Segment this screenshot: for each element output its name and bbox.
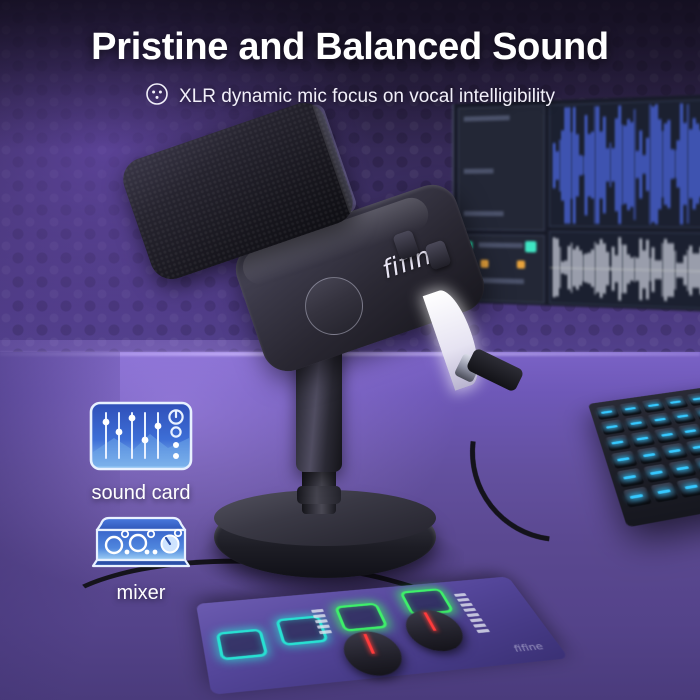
callout-sound-card-label: sound card <box>56 482 226 505</box>
keyboard-key <box>686 392 700 406</box>
microphone-stand-collar <box>297 486 341 504</box>
interface-brand-logo: fifine <box>511 641 547 655</box>
keyboard-key <box>654 427 680 443</box>
daw-waveform-blue <box>549 98 700 228</box>
keyboard-key <box>676 477 700 496</box>
interface-knob-2[interactable] <box>398 608 473 654</box>
interface-knob-1[interactable] <box>337 629 411 678</box>
callout-mixer: mixer <box>56 512 226 605</box>
keyboard-key <box>671 409 696 424</box>
callout-mixer-label: mixer <box>56 582 226 605</box>
keyboard-key <box>641 398 665 412</box>
product-banner-scene: fifine fifine Pristine and Balanced Soun… <box>0 0 700 700</box>
daw-waveform-white <box>549 231 700 310</box>
page-subtitle: XLR dynamic mic focus on vocal intelligi… <box>179 86 555 108</box>
keyboard-key <box>664 395 688 409</box>
keyboard-key <box>668 459 696 477</box>
mixer-icon <box>56 512 226 577</box>
interface-pad-3[interactable] <box>334 603 389 632</box>
computer-monitor <box>452 94 700 312</box>
microphone-pivot-joint[interactable] <box>305 277 363 335</box>
xlr-connector-icon <box>145 82 169 112</box>
subtitle-row: XLR dynamic mic focus on vocal intelligi… <box>0 82 700 112</box>
keyboard-key <box>650 482 679 502</box>
callout-sound-card: sound card <box>56 400 226 505</box>
interface-pad-1[interactable] <box>216 628 269 660</box>
keyboard-key <box>647 412 672 427</box>
keyboard-key <box>661 443 688 460</box>
daw-track-panel-top <box>458 105 545 231</box>
keyboard-key <box>678 423 700 439</box>
page-title: Pristine and Balanced Sound <box>0 26 700 69</box>
sound-card-icon <box>56 400 226 477</box>
keyboard-key <box>685 439 700 456</box>
